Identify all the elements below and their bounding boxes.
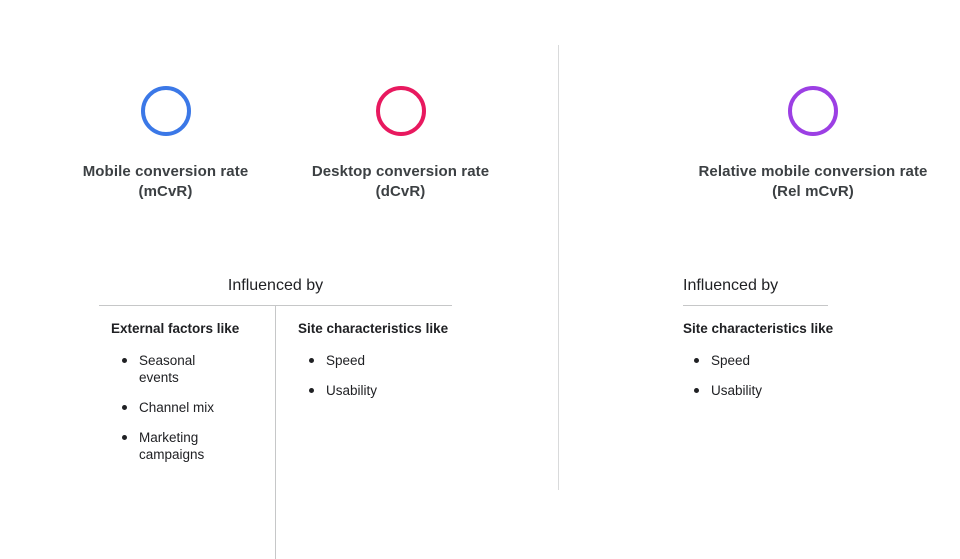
influence-column-external-factors: External factors like Seasonal events Ch… <box>99 306 275 559</box>
right-influenced-by-block: Influenced by Site characteristics like … <box>683 276 828 399</box>
bullet-list: Speed Usability <box>298 352 442 399</box>
column-heading: Site characteristics like <box>298 320 442 338</box>
column-heading: Site characteristics like <box>683 320 828 338</box>
metric-label-line1: Desktop conversion rate <box>312 162 489 182</box>
metric-label-line1: Mobile conversion rate <box>83 162 249 182</box>
influenced-by-title: Influenced by <box>99 276 452 305</box>
list-item: Seasonal events <box>137 352 231 386</box>
right-metrics-group: Relative mobile conversion rate (Rel mCv… <box>668 86 958 202</box>
bullet-list: Seasonal events Channel mix Marketing ca… <box>111 352 261 463</box>
influence-column-site-characteristics: Site characteristics like Speed Usabilit… <box>275 306 452 559</box>
metric-label-mcvr: Mobile conversion rate (mCvR) <box>83 162 249 202</box>
metric-label-line2: (dCvR) <box>312 182 489 202</box>
left-panel: Mobile conversion rate (mCvR) Desktop co… <box>0 0 558 540</box>
metric-label-rel-mcvr: Relative mobile conversion rate (Rel mCv… <box>698 162 927 202</box>
metric-label-line1: Relative mobile conversion rate <box>698 162 927 182</box>
metric-label-line2: (mCvR) <box>83 182 249 202</box>
right-panel: Relative mobile conversion rate (Rel mCv… <box>558 0 960 540</box>
list-item: Usability <box>324 382 442 399</box>
column-spacer <box>298 399 442 559</box>
circle-outline-icon <box>141 86 191 136</box>
metric-label-line2: (Rel mCvR) <box>698 182 927 202</box>
metric-card-mcvr: Mobile conversion rate (mCvR) <box>48 86 283 202</box>
influence-columns: External factors like Seasonal events Ch… <box>99 306 452 559</box>
circle-outline-icon <box>788 86 838 136</box>
list-item: Speed <box>324 352 442 369</box>
left-influenced-by-block: Influenced by External factors like Seas… <box>99 276 452 559</box>
influence-column-site-characteristics: Site characteristics like Speed Usabilit… <box>683 306 828 399</box>
influenced-by-title: Influenced by <box>683 276 828 305</box>
list-item: Speed <box>709 352 828 369</box>
metric-card-rel-mcvr: Relative mobile conversion rate (Rel mCv… <box>668 86 958 202</box>
metric-label-dcvr: Desktop conversion rate (dCvR) <box>312 162 489 202</box>
influence-columns: Site characteristics like Speed Usabilit… <box>683 306 828 399</box>
column-heading: External factors like <box>111 320 261 338</box>
list-item: Channel mix <box>137 399 231 416</box>
bullet-list: Speed Usability <box>683 352 828 399</box>
list-item: Usability <box>709 382 828 399</box>
slide-canvas: Mobile conversion rate (mCvR) Desktop co… <box>0 0 960 540</box>
circle-outline-icon <box>376 86 426 136</box>
metric-card-dcvr: Desktop conversion rate (dCvR) <box>283 86 518 202</box>
list-item: Marketing campaigns <box>137 429 231 463</box>
left-metrics-group: Mobile conversion rate (mCvR) Desktop co… <box>48 86 518 202</box>
